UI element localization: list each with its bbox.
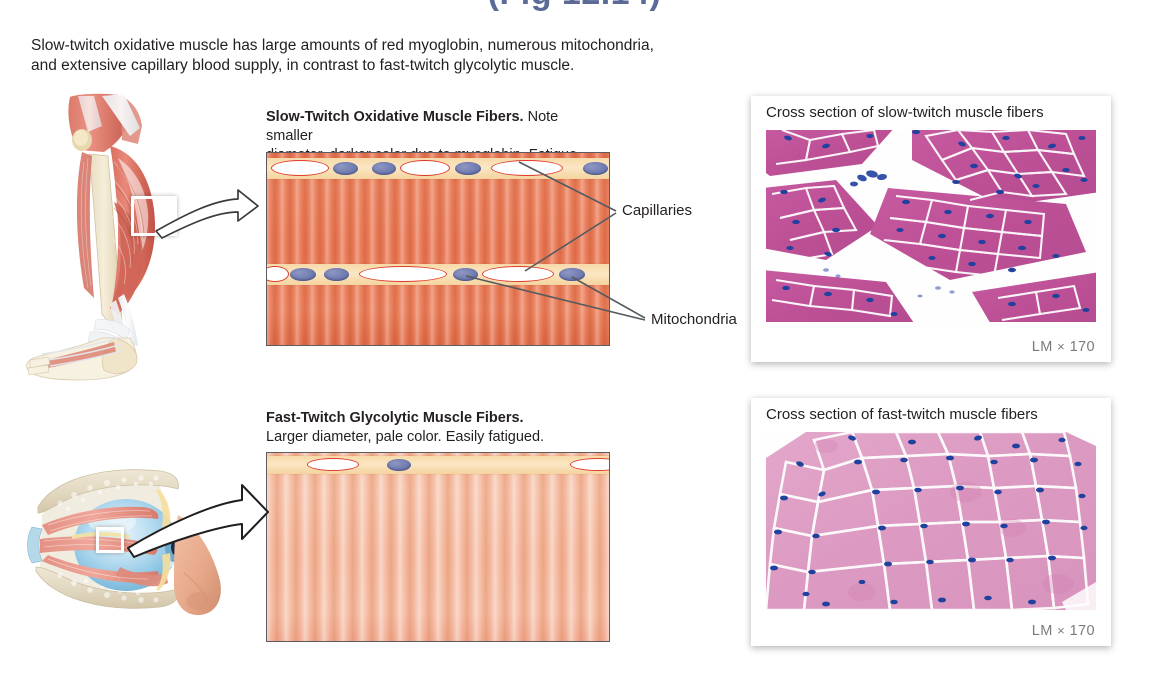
capillary [359, 266, 447, 282]
leg-muscle-illustration [18, 92, 250, 387]
callout-label-mitochondria: Mitochondria [651, 311, 737, 328]
fast-twitch-micrograph-card: Cross section of fast-twitch muscle fibe… [751, 398, 1111, 646]
times-symbol: × [1057, 339, 1065, 354]
mitochondria [387, 459, 411, 471]
mitochondria [290, 268, 316, 281]
mitochondria [333, 162, 358, 175]
fast-micrograph-caption: Cross section of fast-twitch muscle fibe… [766, 406, 1038, 423]
slow-twitch-micrograph-card: Cross section of slow-twitch muscle fibe… [751, 96, 1111, 362]
fast-twitch-heading-bold: Fast-Twitch Glycolytic Muscle Fibers. [266, 410, 524, 426]
mitochondria [372, 162, 396, 175]
fast-micrograph-scale: LM × 170 [1032, 623, 1095, 639]
slow-twitch-heading-bold: Slow-Twitch Oxidative Muscle Fibers. [266, 109, 524, 125]
slow-twitch-fiber-diagram [266, 152, 610, 346]
slow-micrograph-scale: LM × 170 [1032, 339, 1095, 355]
fast-twitch-heading-line1: Fast-Twitch Glycolytic Muscle Fibers. [266, 409, 596, 428]
capillary [307, 458, 359, 471]
fast-micrograph-image [766, 432, 1096, 610]
fast-twitch-heading: Fast-Twitch Glycolytic Muscle Fibers. La… [266, 409, 596, 447]
scale-lm-label: LM [1032, 339, 1053, 355]
eye-extraocular-muscle-illustration [8, 455, 253, 645]
mitochondria [455, 162, 481, 175]
slow-micrograph-caption: Cross section of slow-twitch muscle fibe… [766, 104, 1044, 121]
selection-box-icon[interactable] [96, 527, 124, 553]
figure-title: (Fig 12.14) [0, 0, 1149, 13]
fast-fiber-striations [267, 453, 609, 641]
slow-fiber-striations [267, 153, 609, 345]
magnification-value: 170 [1070, 623, 1095, 639]
intro-line-1: Slow-twitch oxidative muscle has large a… [31, 36, 771, 56]
figure-canvas: (Fig 12.14) Slow-twitch oxidative muscle… [0, 0, 1149, 679]
capillary [491, 160, 563, 176]
slow-twitch-heading-line1: Slow-Twitch Oxidative Muscle Fibers. Not… [266, 108, 596, 146]
mitochondria [453, 268, 478, 281]
intro-line-2: and extensive capillary blood supply, in… [31, 56, 771, 76]
fast-twitch-fiber-diagram [266, 452, 610, 642]
selection-box-icon[interactable] [131, 196, 177, 236]
capillary [400, 160, 450, 176]
mitochondria [324, 268, 349, 281]
scale-lm-label: LM [1032, 623, 1053, 639]
magnification-value: 170 [1070, 339, 1095, 355]
fast-twitch-heading-line2: Larger diameter, pale color. Easily fati… [266, 428, 596, 447]
slow-micrograph-image [766, 130, 1096, 322]
mitochondria [559, 268, 585, 281]
figure-intro-text: Slow-twitch oxidative muscle has large a… [31, 36, 771, 76]
capillary [271, 160, 329, 176]
callout-label-capillaries: Capillaries [622, 202, 692, 219]
times-symbol: × [1057, 623, 1065, 638]
mitochondria [583, 162, 608, 175]
capillary [482, 266, 554, 282]
